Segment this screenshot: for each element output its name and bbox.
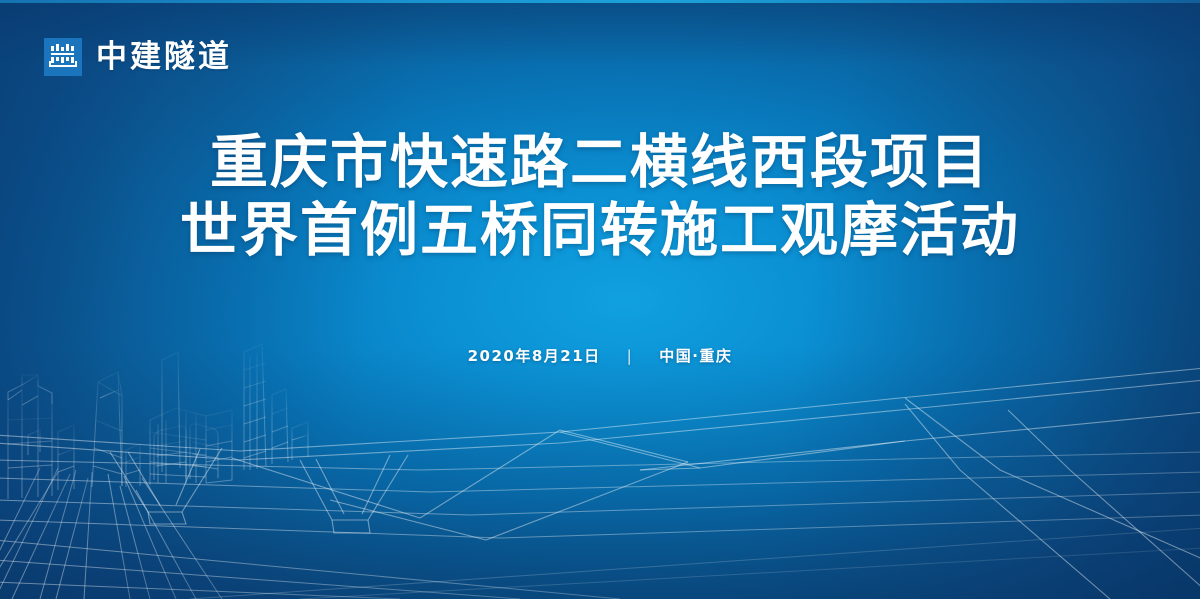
poster-headline: 重庆市快速路二横线西段项目 世界首例五桥同转施工观摩活动 (0, 128, 1200, 264)
event-meta: 2020年8月21日|中国·重庆 (0, 345, 1200, 366)
poster-canvas: 中建隧道 重庆市快速路二横线西段项目 世界首例五桥同转施工观摩活动 2020年8… (0, 0, 1200, 599)
brand-name: 中建隧道 (96, 42, 232, 73)
headline-line-1: 重庆市快速路二横线西段项目 (0, 128, 1200, 196)
event-date: 2020年8月21日 (468, 345, 601, 366)
brand-logo: 中建隧道 (44, 38, 232, 76)
event-location: 中国·重庆 (659, 345, 732, 366)
meta-separator: | (601, 347, 660, 365)
headline-line-2: 世界首例五桥同转施工观摩活动 (0, 196, 1200, 264)
skyline-wireframe (8, 344, 308, 499)
cscec-logo-icon (44, 38, 82, 76)
background-artwork (0, 0, 1200, 599)
road-perspective-lines (0, 452, 1200, 599)
